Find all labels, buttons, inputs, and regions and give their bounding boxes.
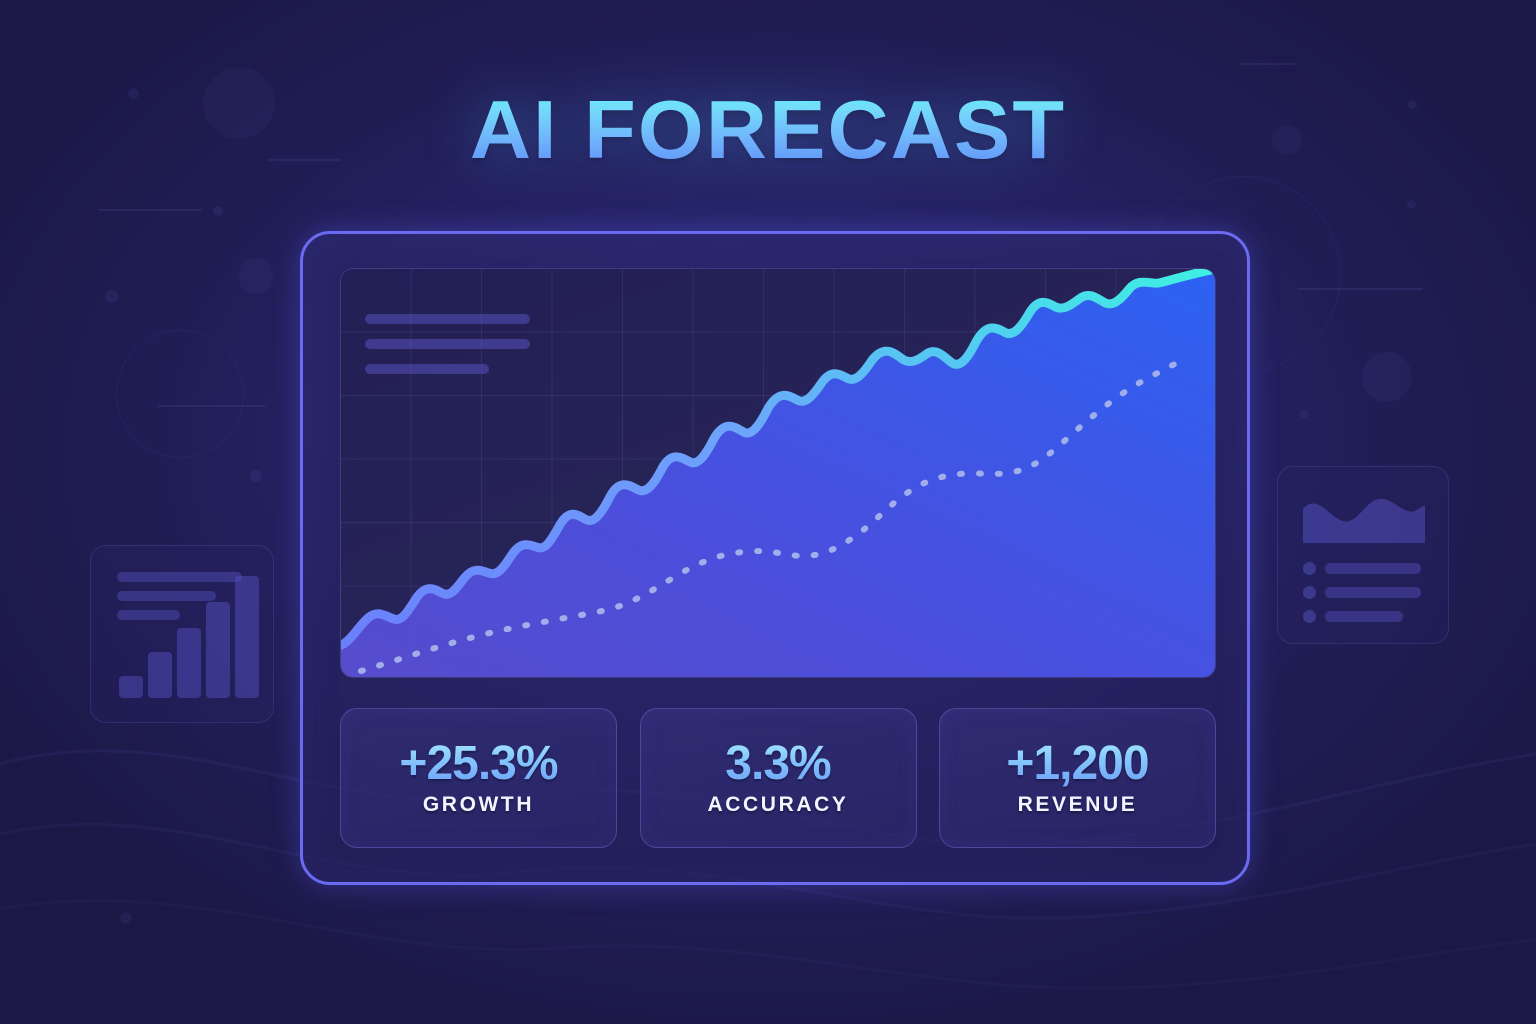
side-widget-report-list[interactable] <box>1277 466 1449 644</box>
widget-list-bar-3 <box>1325 611 1403 622</box>
stats-row: +25.3% GROWTH 3.3% ACCURACY +1,200 REVEN… <box>340 708 1216 848</box>
decor-dot-8 <box>120 912 132 924</box>
decor-line-3 <box>158 405 266 407</box>
widget-bar-2 <box>148 652 172 698</box>
stat-label-growth: GROWTH <box>423 793 534 817</box>
decor-dot-4 <box>250 470 262 482</box>
decor-line-5 <box>1240 63 1298 65</box>
chart-placeholder-line-3 <box>365 364 489 374</box>
stat-card-accuracy[interactable]: 3.3% ACCURACY <box>640 708 917 848</box>
decor-dot-2 <box>213 206 223 216</box>
chart-area-fill <box>341 269 1215 677</box>
widget-line-1 <box>117 572 242 582</box>
widget-list-dot-1 <box>1303 562 1316 575</box>
decor-circle-mid-left <box>238 258 274 294</box>
widget-bar-5 <box>235 576 259 698</box>
widget-bar-3 <box>177 628 201 698</box>
decor-line-4 <box>1297 288 1423 290</box>
main-dashboard-panel: +25.3% GROWTH 3.3% ACCURACY +1,200 REVEN… <box>300 231 1250 885</box>
widget-list-bar-1 <box>1325 563 1421 574</box>
decor-dot-3 <box>105 290 118 303</box>
stat-card-growth[interactable]: +25.3% GROWTH <box>340 708 617 848</box>
stat-value-revenue: +1,200 <box>1006 739 1148 790</box>
dashboard-canvas: AI FORECAST <box>0 0 1536 1024</box>
side-widget-bar-chart[interactable] <box>90 545 274 723</box>
widget-bar-1 <box>119 676 143 698</box>
stat-value-growth: +25.3% <box>399 739 557 790</box>
decor-dot-6 <box>1407 200 1416 209</box>
chart-plot-area <box>341 269 1215 677</box>
decor-ring-left <box>116 330 244 458</box>
widget-area-chart-icon <box>1303 495 1425 543</box>
page-title: AI FORECAST <box>0 88 1536 171</box>
stat-label-revenue: REVENUE <box>1018 793 1138 817</box>
widget-bar-4 <box>206 602 230 698</box>
widget-list-bar-2 <box>1325 587 1421 598</box>
stat-value-accuracy: 3.3% <box>725 739 830 790</box>
decor-circle-right-lower <box>1362 352 1412 402</box>
stat-label-accuracy: ACCURACY <box>708 793 849 817</box>
widget-list-dot-3 <box>1303 610 1316 623</box>
chart-placeholder-line-2 <box>365 339 530 349</box>
widget-line-2 <box>117 591 216 601</box>
chart-placeholder-line-1 <box>365 314 530 324</box>
decor-line-2 <box>98 209 202 211</box>
forecast-chart[interactable] <box>340 268 1216 678</box>
widget-list-dot-2 <box>1303 586 1316 599</box>
stat-card-revenue[interactable]: +1,200 REVENUE <box>939 708 1216 848</box>
decor-dot-7 <box>1300 410 1308 418</box>
widget-line-3 <box>117 610 180 620</box>
